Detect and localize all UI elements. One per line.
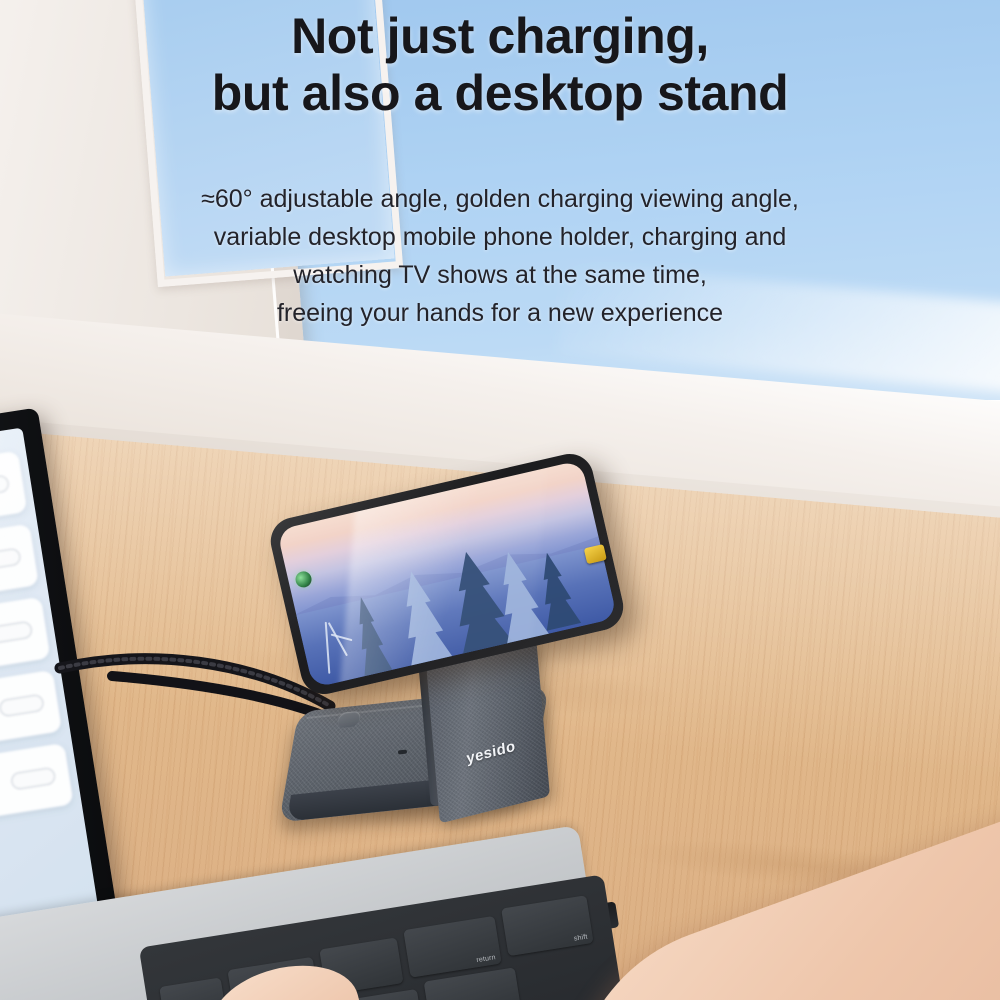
headline-line-2: but also a desktop stand bbox=[0, 65, 1000, 122]
headline-line-1: Not just charging, bbox=[0, 8, 1000, 65]
product-marketing-image: delete return shift yesido bbox=[0, 0, 1000, 1000]
page-title: Not just charging, but also a desktop st… bbox=[0, 8, 1000, 122]
subcopy-line-2: variable desktop mobile phone holder, ch… bbox=[0, 218, 1000, 256]
subtitle-copy: ≈60° adjustable angle, golden charging v… bbox=[0, 180, 1000, 332]
subcopy-line-1: ≈60° adjustable angle, golden charging v… bbox=[0, 180, 1000, 218]
subcopy-line-3: watching TV shows at the same time, bbox=[0, 256, 1000, 294]
subcopy-line-4: freeing your hands for a new experience bbox=[0, 294, 1000, 332]
